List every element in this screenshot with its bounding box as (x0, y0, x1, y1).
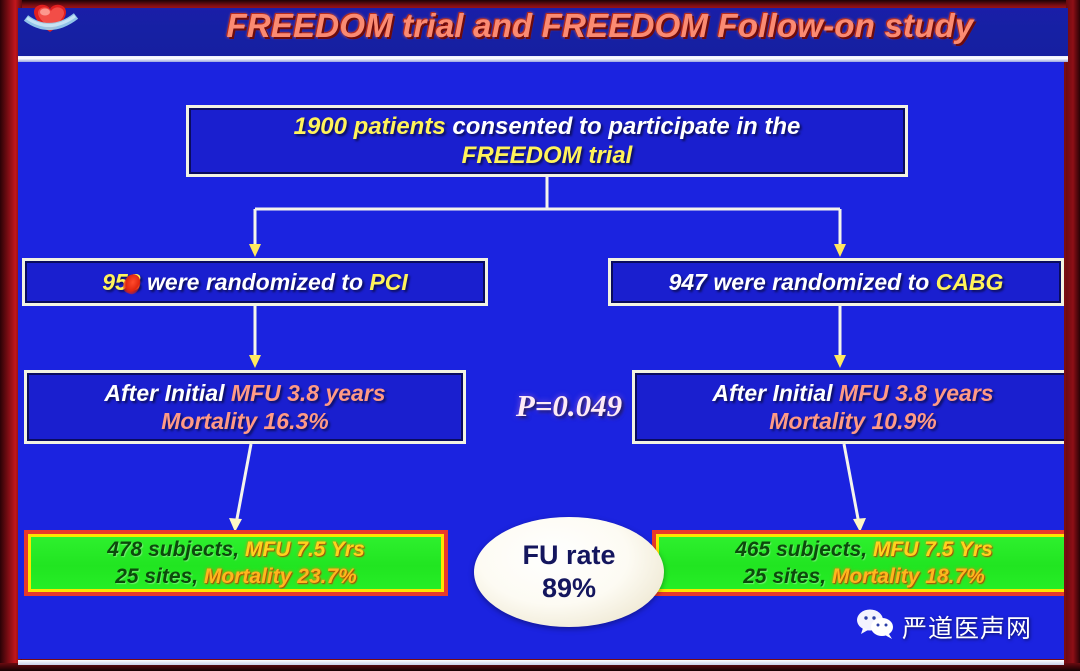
cabg-mfu: MFU 3.8 years (839, 380, 994, 406)
cabg-fu-mfu: MFU 7.5 Yrs (873, 538, 993, 561)
pci-text: were randomized to (141, 269, 370, 295)
pci-arm: PCI (369, 269, 407, 295)
slide-body: 1900 patients consented to participate i… (18, 62, 1064, 659)
consent-trial-name: FREEDOM trial (462, 142, 633, 169)
cabg-fu-subjects: 465 subjects, (735, 538, 873, 561)
slide-canvas: FREEDOM trial and FREEDOM Follow-on stud… (0, 0, 1080, 671)
heart-logo-icon (18, 2, 138, 54)
cabg-arm: CABG (936, 269, 1004, 295)
fu-rate-value: 89% (542, 572, 596, 605)
cabg-mortality-value: Mortality 10.9% (769, 408, 936, 434)
node-consented: 1900 patients consented to participate i… (186, 105, 908, 177)
cabg-count: 947 (669, 269, 707, 295)
node-pci-followup: 478 subjects, MFU 7.5 Yrs 25 sites, Mort… (24, 530, 448, 596)
cabg-text: were randomized to (707, 269, 936, 295)
pci-fu-mortality: Mortality 23.7% (204, 565, 357, 588)
pci-mortality-value: Mortality 16.3% (161, 408, 328, 434)
node-pci-initial-mortality: After Initial MFU 3.8 years Mortality 16… (24, 370, 466, 444)
fu-rate-label: FU rate (522, 539, 615, 572)
wechat-icon (855, 608, 895, 645)
pci-fu-sites: 25 sites, (115, 565, 204, 588)
cabg-fu-sites: 25 sites, (743, 565, 832, 588)
node-cabg-randomized: 947 were randomized to CABG (608, 258, 1064, 306)
cabg-fu-mortality: Mortality 18.7% (832, 565, 985, 588)
node-cabg-followup: 465 subjects, MFU 7.5 Yrs 25 sites, Mort… (652, 530, 1064, 596)
cabg-mortality-prefix: After Initial (712, 380, 839, 406)
pci-fu-mfu: MFU 7.5 Yrs (245, 538, 365, 561)
consent-count: 1900 patients (294, 113, 446, 140)
fu-rate-callout: FU rate 89% (474, 517, 664, 627)
pci-mfu: MFU 3.8 years (231, 380, 386, 406)
watermark-text: 严道医声网 (902, 609, 1032, 645)
pci-mortality-prefix: After Initial (104, 380, 231, 406)
p-value-label: P=0.049 (494, 384, 644, 428)
frame-right-border (1066, 0, 1080, 671)
consent-text: consented to participate in the (446, 113, 801, 140)
page-title: FREEDOM trial and FREEDOM Follow-on stud… (150, 2, 1050, 50)
watermark: 严道医声网 (855, 608, 1032, 645)
node-pci-randomized: 953 were randomized to PCI (22, 258, 488, 306)
pci-fu-subjects: 478 subjects, (107, 538, 245, 561)
node-cabg-initial-mortality: After Initial MFU 3.8 years Mortality 10… (632, 370, 1064, 444)
bottom-white-strip (18, 660, 1064, 665)
